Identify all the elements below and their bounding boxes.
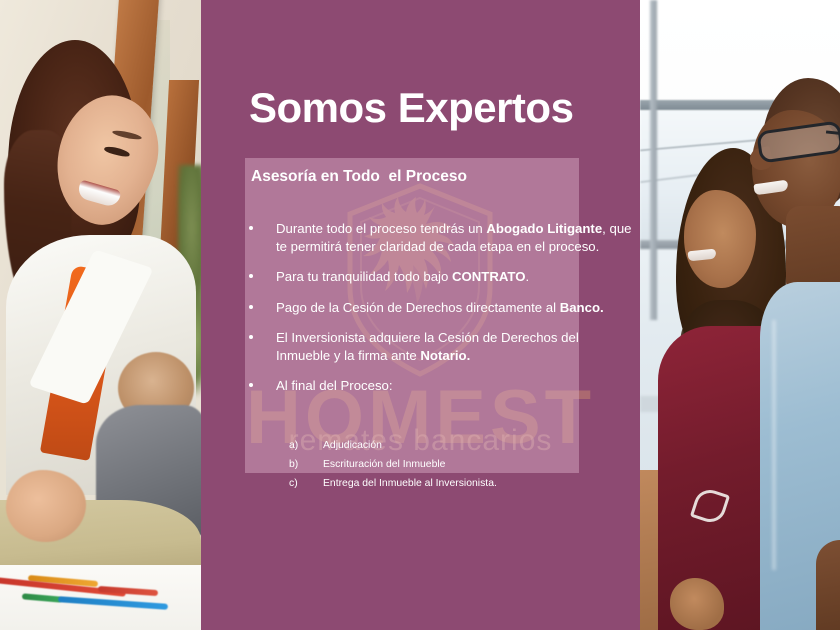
photo-right bbox=[640, 0, 840, 630]
sub-list-label: Adjudicación bbox=[323, 440, 382, 451]
bullet-text: Durante todo el proceso tendrás un bbox=[276, 221, 486, 236]
content-panel: HOMEST remates bancarios Somos Expertos … bbox=[201, 0, 640, 630]
bullet-item: Durante todo el proceso tendrás un Aboga… bbox=[245, 220, 635, 255]
bullet-emphasis: Abogado Litigante bbox=[486, 221, 602, 236]
bullet-text: Para tu tranquilidad todo bajo bbox=[276, 269, 452, 284]
right-photo-man-shirt-fold bbox=[772, 320, 776, 570]
bullet-item: Para tu tranquilidad todo bajo CONTRATO. bbox=[245, 268, 635, 286]
sub-list-item: b)Escrituración del Inmueble bbox=[289, 459, 609, 470]
photo-left bbox=[0, 0, 201, 630]
section-subtitle: Asesoría en Todo el Proceso bbox=[251, 168, 467, 186]
sub-list-marker: c) bbox=[289, 478, 323, 489]
bullet-text: Al final del Proceso: bbox=[276, 378, 393, 393]
right-photo-man-arm bbox=[816, 540, 840, 630]
bullet-item: El Inversionista adquiere la Cesión de D… bbox=[245, 329, 635, 364]
sub-list-marker: a) bbox=[289, 440, 323, 451]
page-title: Somos Expertos bbox=[249, 86, 629, 130]
sub-list-item: a)Adjudicación bbox=[289, 440, 609, 451]
bullet-text: Pago de la Cesión de Derechos directamen… bbox=[276, 300, 560, 315]
sub-list-label: Escrituración del Inmueble bbox=[323, 459, 445, 470]
right-photo-woman-face bbox=[684, 190, 756, 288]
bullet-emphasis: Notario. bbox=[420, 348, 470, 363]
left-photo-hand bbox=[6, 470, 86, 542]
bullet-item: Pago de la Cesión de Derechos directamen… bbox=[245, 299, 635, 317]
bullet-emphasis: CONTRATO bbox=[452, 269, 526, 284]
bullet-emphasis: Banco. bbox=[560, 300, 604, 315]
presentation-slide: HOMEST remates bancarios Somos Expertos … bbox=[0, 0, 840, 630]
right-photo-window-mullion-vertical bbox=[650, 0, 657, 320]
bullet-list: Durante todo el proceso tendrás un Aboga… bbox=[245, 220, 635, 408]
sub-list: a)Adjudicaciónb)Escrituración del Inmueb… bbox=[289, 440, 609, 497]
right-photo-woman-hand bbox=[670, 578, 724, 630]
sub-list-marker: b) bbox=[289, 459, 323, 470]
sub-list-label: Entrega del Inmueble al Inversionista. bbox=[323, 478, 497, 489]
bullet-text: . bbox=[525, 269, 529, 284]
bullet-item: Al final del Proceso: bbox=[245, 377, 635, 395]
sub-list-item: c)Entrega del Inmueble al Inversionista. bbox=[289, 478, 609, 489]
